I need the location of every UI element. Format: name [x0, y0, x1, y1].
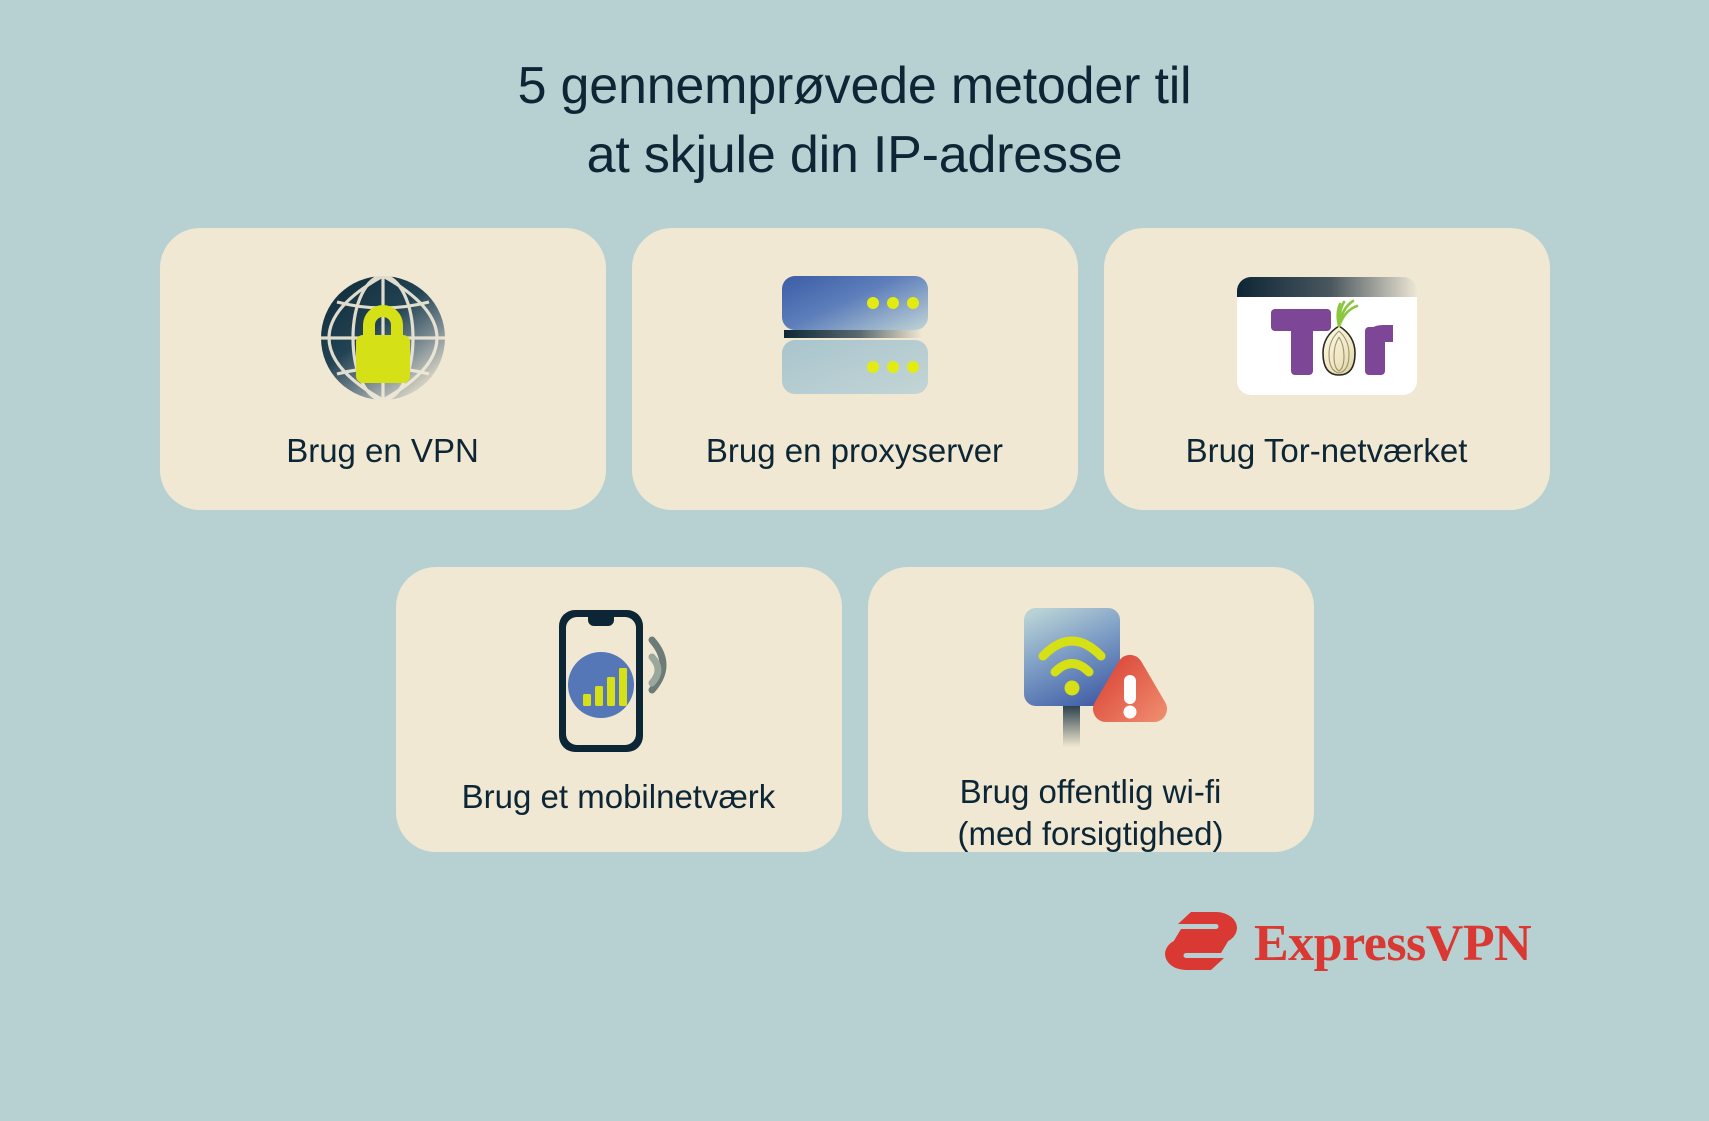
- method-card-proxy[interactable]: Brug en proxyserver: [632, 228, 1078, 510]
- method-card-label-line-2: (med forsigtighed): [958, 813, 1224, 855]
- method-card-mobile[interactable]: Brug et mobilnetværk: [396, 567, 842, 852]
- page-title: 5 gennemprøvede metoder til at skjule di…: [0, 52, 1709, 189]
- method-card-label: Brug en VPN: [286, 430, 479, 472]
- page-title-line-1: 5 gennemprøvede metoder til: [0, 52, 1709, 121]
- method-card-vpn[interactable]: Brug en VPN: [160, 228, 606, 510]
- tor-browser-icon: [1104, 264, 1550, 412]
- method-card-wifi[interactable]: Brug offentlig wi-fi (med forsigtighed): [868, 567, 1314, 852]
- expressvpn-brand[interactable]: ExpressVPN: [1162, 910, 1531, 977]
- methods-row-bottom: Brug et mobilnetværk: [0, 567, 1709, 852]
- methods-row-top: Brug en VPN: [0, 228, 1709, 510]
- smartphone-signal-icon: [396, 603, 842, 758]
- method-card-tor[interactable]: Brug Tor-netværket: [1104, 228, 1550, 510]
- method-card-label-line-1: Brug offentlig wi-fi: [960, 773, 1222, 810]
- methods-grid: Brug en VPN: [0, 228, 1709, 852]
- method-card-label: Brug en proxyserver: [706, 430, 1003, 472]
- globe-lock-icon: [160, 264, 606, 412]
- server-stack-icon: [632, 264, 1078, 412]
- method-card-label: Brug Tor-netværket: [1186, 430, 1468, 472]
- page-title-line-2: at skjule din IP-adresse: [0, 121, 1709, 190]
- method-card-label: Brug offentlig wi-fi (med forsigtighed): [958, 771, 1224, 854]
- method-card-label: Brug et mobilnetværk: [462, 776, 776, 818]
- expressvpn-logo-mark: [1162, 910, 1240, 977]
- expressvpn-wordmark: ExpressVPN: [1254, 918, 1531, 970]
- wifi-warning-icon: [868, 603, 1314, 753]
